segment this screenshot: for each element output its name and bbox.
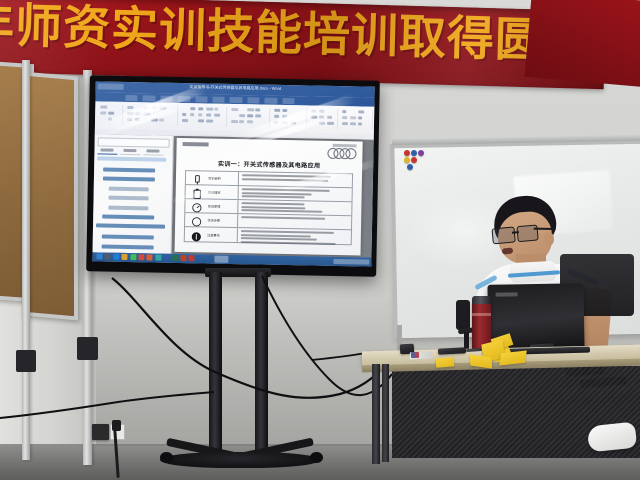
nav-search-input[interactable] — [98, 137, 170, 147]
doc-row-label-cell: 实训步骤 — [207, 214, 238, 228]
ribbon-control[interactable] — [342, 116, 347, 119]
taskbar-edge-icon[interactable] — [113, 254, 119, 260]
ribbon-control[interactable] — [274, 109, 280, 113]
doc-row-icon-cell — [185, 199, 207, 212]
nav-tab-label — [146, 149, 159, 152]
tv-stand-caster-right — [310, 452, 323, 463]
ribbon-control[interactable] — [108, 118, 112, 121]
ribbon-group-5[interactable] — [309, 108, 338, 129]
doc-row-label: 注意事项 — [207, 232, 220, 237]
ribbon-control[interactable] — [100, 111, 106, 115]
ribbon-tab-7[interactable] — [247, 97, 260, 103]
tv-stand-column-left — [209, 272, 222, 458]
doc-text-line — [241, 206, 305, 209]
ribbon-control[interactable] — [100, 105, 107, 109]
doc-row-label: 实训步骤 — [207, 218, 220, 223]
ribbon-control[interactable] — [319, 110, 324, 113]
doc-row-label: 实训器材 — [208, 190, 221, 195]
ribbon-group-6[interactable] — [340, 109, 373, 130]
ribbon-control[interactable] — [255, 114, 261, 118]
cork-surface-right — [26, 76, 74, 316]
ribbon-control[interactable] — [239, 120, 244, 123]
doc-row-label-cell: 实训目的 — [208, 172, 239, 186]
doc-text-line — [241, 241, 336, 245]
nav-tab-label — [100, 148, 113, 151]
nav-tab-0[interactable] — [97, 147, 117, 154]
tv-stand-caster-left — [160, 452, 173, 463]
cork-board-right — [22, 72, 78, 321]
taskbar-wechat-icon[interactable] — [130, 254, 136, 260]
ribbon-control[interactable] — [311, 109, 316, 112]
ribbon-control[interactable] — [358, 110, 364, 114]
ribbon-tab-3[interactable] — [178, 96, 191, 102]
doc-text-line — [241, 202, 304, 205]
doc-row-label-cell: 实训器材 — [208, 186, 239, 200]
doc-text-line — [242, 188, 330, 192]
ribbon-control[interactable] — [190, 107, 195, 110]
taskbar-music-icon[interactable] — [155, 255, 161, 261]
doc-row-label: 实训原理 — [208, 204, 221, 209]
taskbar-chrome-icon[interactable] — [147, 255, 153, 261]
taskbar-excel-icon[interactable] — [172, 255, 178, 261]
ribbon-control[interactable] — [182, 113, 186, 116]
nav-outline-item-4[interactable] — [109, 196, 149, 201]
whiteboard-magnet-2[interactable] — [418, 150, 424, 156]
ribbon-control[interactable] — [342, 122, 348, 125]
document-logo — [327, 144, 357, 156]
ribbon-control[interactable] — [282, 109, 287, 112]
document-header-text — [183, 142, 209, 146]
display-screen: 实训指导书-开关式传感器及其电路应用.docx - Word — [92, 81, 374, 266]
taskbar-system-tray[interactable] — [333, 259, 369, 265]
taskbar-folder-icon[interactable] — [122, 254, 128, 260]
ribbon-group-0[interactable] — [98, 104, 123, 124]
doc-row-text-cell — [239, 186, 352, 201]
ribbon-control[interactable] — [108, 112, 114, 115]
ribbon-control[interactable] — [282, 115, 287, 118]
nav-outline-item-6[interactable] — [102, 214, 154, 219]
doc-row-text-cell — [238, 214, 351, 229]
doc-row-icon-cell — [186, 185, 208, 198]
ribbon-control[interactable] — [127, 112, 134, 116]
taskbar-qq-icon[interactable] — [138, 255, 144, 261]
ribbon-tab-9[interactable] — [282, 98, 295, 104]
ribbon-control[interactable] — [247, 114, 253, 118]
ribbon-control[interactable] — [135, 112, 140, 115]
nav-outline-item-5[interactable] — [108, 205, 148, 210]
board-post-left — [22, 60, 30, 460]
laptop-brand-badge — [496, 292, 518, 296]
lens-left — [491, 226, 515, 244]
nav-outline-item-9[interactable] — [102, 244, 154, 249]
quick-access-toolbar[interactable] — [98, 83, 124, 89]
doc-row-icon-cell — [185, 213, 207, 226]
nav-tab-label — [123, 149, 136, 152]
ribbon-control[interactable] — [231, 120, 238, 124]
ribbon-control[interactable] — [151, 118, 158, 122]
white-object-on-table — [587, 422, 637, 453]
desk-leg-inner — [382, 364, 389, 462]
ribbon-control[interactable] — [198, 119, 204, 123]
taskbar-word-icon[interactable] — [164, 255, 170, 261]
ribbon-tab-1[interactable] — [143, 95, 156, 101]
ribbon-control[interactable] — [127, 106, 133, 110]
ribbon-group-3[interactable] — [229, 107, 270, 128]
nav-tab-2[interactable] — [143, 148, 163, 155]
ribbon-control[interactable] — [231, 108, 238, 112]
taskbar-ppt-icon[interactable] — [180, 255, 186, 261]
doc-row-icon-cell — [185, 227, 207, 241]
board-foot-left — [16, 350, 36, 372]
ribbon-control[interactable] — [282, 121, 288, 125]
ribbon-control[interactable] — [206, 107, 213, 111]
ribbon-control[interactable] — [206, 119, 213, 123]
ribbon-control[interactable] — [151, 106, 156, 109]
ribbon-control[interactable] — [190, 113, 194, 116]
doc-text-line — [241, 216, 325, 220]
ribbon-tab-5[interactable] — [212, 97, 225, 103]
logo-ring-4 — [345, 148, 356, 159]
chair-backrest — [456, 300, 470, 330]
ribbon-control[interactable] — [327, 122, 334, 126]
doc-text-line — [242, 195, 305, 198]
ribbon-control[interactable] — [358, 116, 362, 119]
ribbon-control[interactable] — [198, 107, 203, 110]
doc-row-icon-cell — [186, 171, 208, 184]
ribbon-group-4[interactable] — [272, 108, 307, 129]
banner-drape-right — [524, 0, 640, 87]
info-icon — [190, 229, 201, 240]
ribbon-control[interactable] — [274, 115, 279, 118]
doc-row-text-cell — [238, 200, 351, 215]
taskbar-active-window[interactable] — [214, 256, 228, 263]
ribbon-control[interactable] — [327, 116, 332, 119]
ribbon-control[interactable] — [247, 108, 254, 112]
ribbon-tab-0[interactable] — [125, 95, 138, 101]
ribbon-control[interactable] — [198, 113, 202, 116]
ribbon-control[interactable] — [311, 115, 317, 118]
desk-card-badge — [411, 352, 419, 358]
ribbon-control[interactable] — [214, 114, 220, 118]
ribbon-group-1[interactable] — [125, 105, 178, 126]
doc-row-text-cell — [238, 228, 351, 244]
nav-tab-1[interactable] — [120, 148, 140, 155]
ribbon-control[interactable] — [319, 122, 325, 126]
ribbon-control[interactable] — [319, 116, 324, 119]
ribbon-group-2[interactable] — [180, 106, 227, 127]
whiteboard-magnet-4[interactable] — [411, 157, 417, 163]
whiteboard-magnet-5[interactable] — [407, 164, 413, 170]
ribbon-tab-4[interactable] — [195, 96, 208, 102]
desk-leg-outer — [372, 364, 380, 464]
ribbon-control[interactable] — [350, 122, 356, 125]
nav-pane-tabs[interactable] — [97, 147, 167, 154]
logo-top-line — [333, 144, 357, 147]
doc-row-text-cell — [239, 172, 352, 187]
nav-outline-item-0[interactable] — [97, 156, 166, 161]
doc-table-row: 注意事项 — [185, 227, 351, 244]
doc-text-line — [242, 178, 329, 182]
doc-text-line — [241, 237, 317, 240]
ribbon-tab-8[interactable] — [265, 98, 278, 104]
wall-mounted-presentation-display: 实训指导书-开关式传感器及其电路应用.docx - Word — [86, 75, 380, 277]
ribbon-control[interactable] — [239, 114, 245, 117]
taskbar-windows-start-icon[interactable] — [96, 254, 102, 260]
ribbon-control[interactable] — [182, 119, 188, 122]
ribbon-control[interactable] — [290, 121, 296, 125]
target-icon — [191, 172, 202, 183]
ribbon-control[interactable] — [143, 118, 148, 121]
ribbon-control[interactable] — [274, 121, 278, 124]
classroom-photo-scene: 年师资实训技能培训取得圆满成功! 实训指导书-开关式传感器及其电路应用.docx… — [0, 0, 640, 480]
board-foot-right — [77, 337, 98, 360]
tv-stand-base — [160, 452, 320, 468]
doc-text-line — [241, 230, 334, 234]
nav-outline-item-7[interactable] — [96, 224, 165, 229]
document-title: 实训一：开关式传感器及其电路应用 — [176, 158, 362, 171]
taskbar-pdf-icon[interactable] — [189, 256, 195, 262]
document-page: 实训一：开关式传感器及其电路应用 实训目的实训器材实训原理实训步骤注意事项 — [175, 138, 363, 256]
clipboard-icon — [191, 186, 202, 197]
wall-power-outlet — [92, 424, 109, 440]
ribbon-control[interactable] — [159, 107, 166, 111]
banner-text: 年师资实训技能培训取得圆满成功! — [0, 0, 606, 75]
ribbon-control[interactable] — [350, 116, 356, 120]
gauge-icon — [191, 200, 202, 211]
nav-outline-item-8[interactable] — [102, 235, 154, 240]
nav-outline-item-2[interactable] — [103, 177, 155, 182]
thermos-cap — [472, 296, 491, 304]
ribbon-control[interactable] — [159, 119, 164, 122]
taskbar-search-icon[interactable] — [105, 254, 111, 260]
ribbon-control[interactable] — [247, 120, 253, 124]
nav-outline-item-3[interactable] — [109, 186, 149, 191]
doc-row-label-cell: 注意事项 — [207, 228, 238, 243]
glasses-temple — [534, 228, 556, 230]
navigation-pane[interactable] — [93, 134, 174, 253]
nav-outline-item-11[interactable] — [107, 263, 147, 266]
doc-row-label: 实训目的 — [208, 176, 221, 181]
ribbon-control[interactable] — [342, 110, 346, 113]
nav-outline-item-1[interactable] — [103, 168, 155, 173]
ribbon-control[interactable] — [206, 113, 211, 116]
thermos-reflection — [472, 313, 491, 316]
word-title-text: 实训指导书-开关式传感器及其电路应用.docx - Word — [189, 84, 281, 92]
doc-text-line — [241, 209, 322, 213]
ribbon-control[interactable] — [214, 108, 218, 111]
document-content-table: 实训目的实训器材实训原理实训步骤注意事项 — [184, 170, 353, 245]
ribbon-control[interactable] — [143, 106, 148, 109]
ribbon-tab-2[interactable] — [160, 96, 173, 102]
ribbon-control[interactable] — [358, 122, 362, 125]
whiteboard-magnet-1[interactable] — [411, 150, 417, 156]
doc-row-label-cell: 实训原理 — [207, 200, 238, 214]
ribbon-tab-6[interactable] — [230, 97, 243, 103]
ribbon-control[interactable] — [255, 108, 260, 111]
tv-stand-column-right — [255, 272, 268, 458]
doc-text-line — [242, 174, 331, 178]
whiteboard-magnet-3[interactable] — [404, 157, 410, 163]
circle-icon — [191, 214, 202, 225]
whiteboard-magnet-0[interactable] — [404, 150, 410, 156]
ribbon-control[interactable] — [127, 118, 132, 121]
word-workspace: 实训一：开关式传感器及其电路应用 实训目的实训器材实训原理实训步骤注意事项 — [93, 134, 374, 257]
ribbon-control[interactable] — [143, 112, 150, 116]
sticky-note-4 — [436, 357, 455, 368]
ribbon-control[interactable] — [135, 118, 140, 121]
